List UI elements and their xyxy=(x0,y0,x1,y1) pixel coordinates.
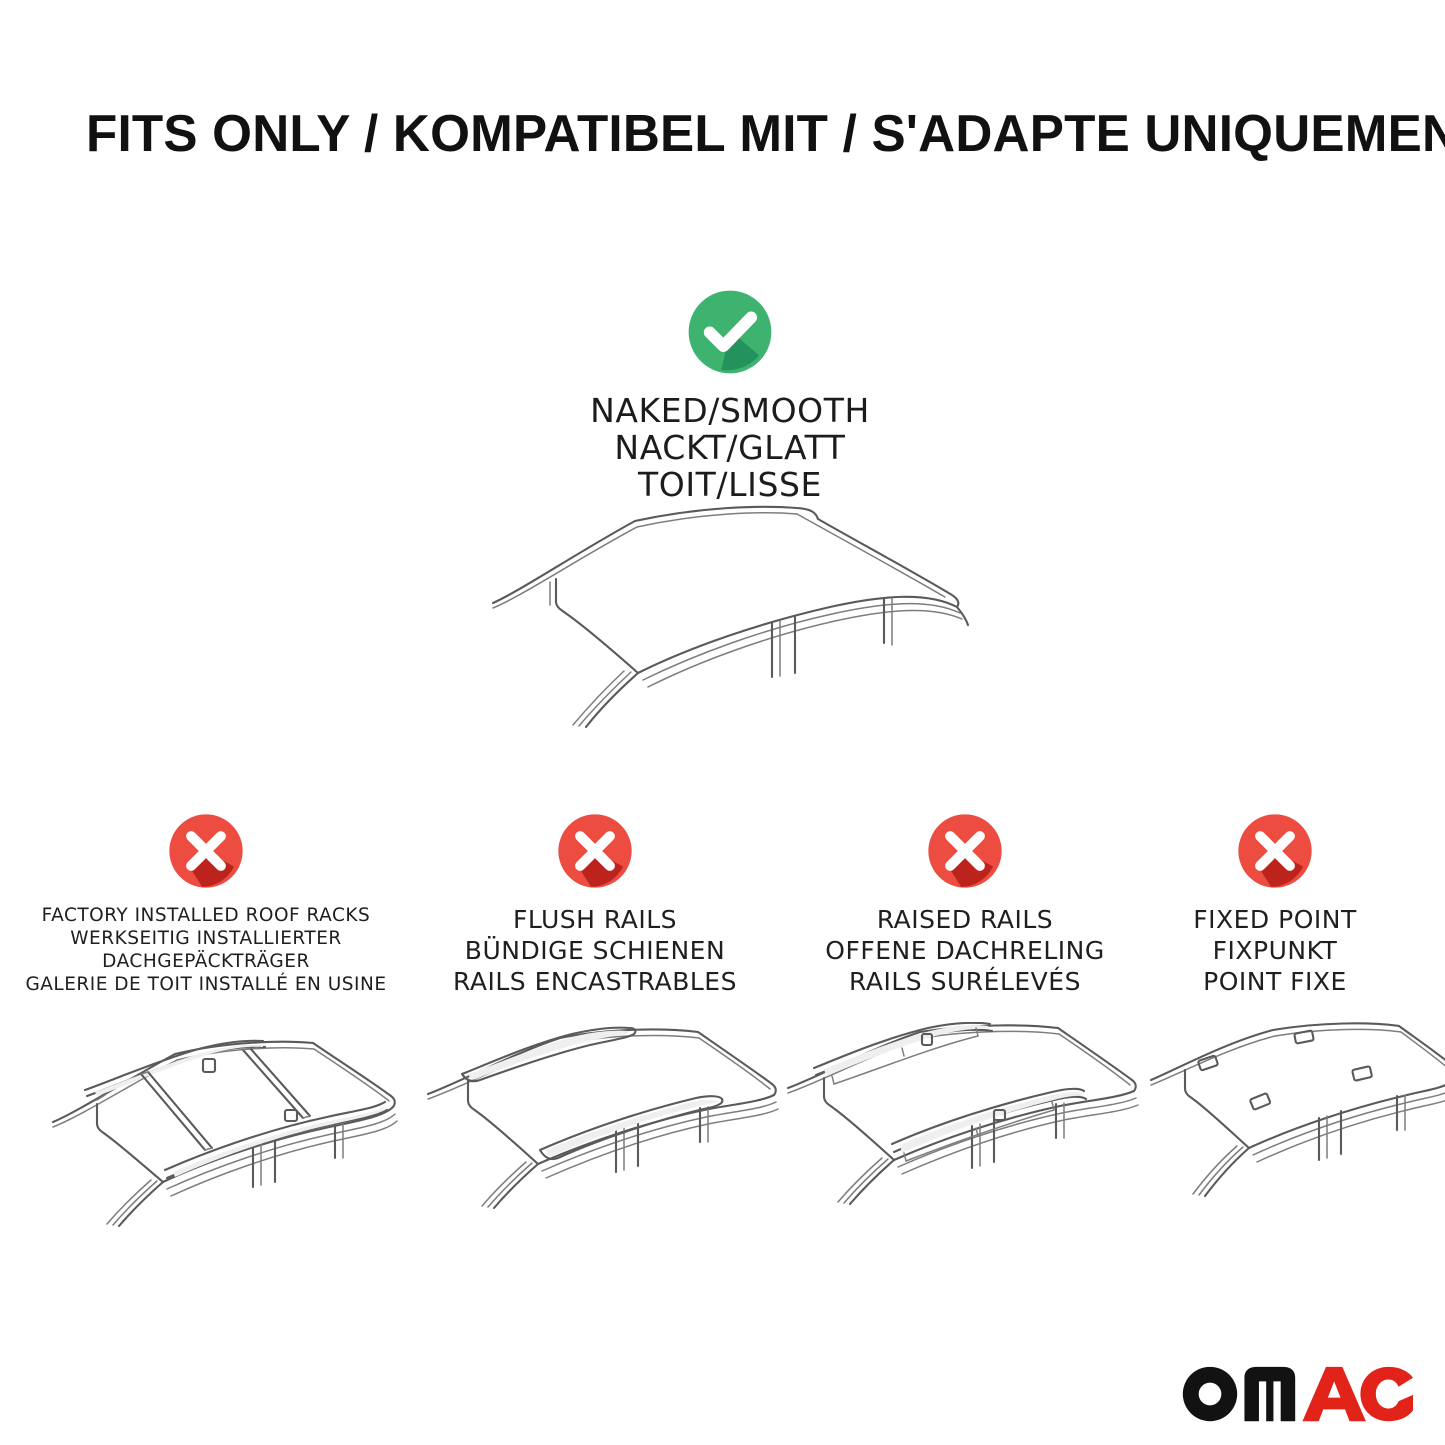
incompatible-label-line-1: RAISED RAILS xyxy=(825,904,1104,935)
incompatible-label-line-2: WERKSEITIG INSTALLIERTER xyxy=(25,927,386,950)
incompatible-label-line-2: FIXPUNKT xyxy=(1193,935,1356,966)
car-roof-flush-rails-illustration xyxy=(420,1022,790,1237)
page-title: FITS ONLY / KOMPATIBEL MIT / S'ADAPTE UN… xyxy=(86,105,1367,163)
omac-logo xyxy=(1181,1359,1417,1423)
incompatible-labels: FLUSH RAILS BÜNDIGE SCHIENEN RAILS ENCAS… xyxy=(453,904,737,997)
x-circle-icon xyxy=(556,812,634,890)
incompatible-label-line-3: DACHGEPÄCKTRÄGER xyxy=(25,950,386,973)
car-roof-naked-smooth-illustration xyxy=(460,495,1000,745)
incompatible-item-raised-rails: RAISED RAILS OFFENE DACHRELING RAILS SUR… xyxy=(790,812,1140,997)
compatible-label-line-1: NAKED/SMOOTH xyxy=(590,392,870,429)
incompatible-label-line-3: RAILS SURÉLEVÉS xyxy=(825,966,1104,997)
incompatible-label-line-1: FLUSH RAILS xyxy=(453,904,737,935)
incompatible-label-line-2: OFFENE DACHRELING xyxy=(825,935,1104,966)
x-circle-icon xyxy=(926,812,1004,890)
incompatible-item-factory-roof-racks: FACTORY INSTALLED ROOF RACKS WERKSEITIG … xyxy=(15,812,397,996)
incompatible-label-line-3: RAILS ENCASTRABLES xyxy=(453,966,737,997)
incompatible-item-fixed-point: FIXED POINT FIXPUNKT POINT FIXE xyxy=(1150,812,1400,997)
incompatible-label-line-2: BÜNDIGE SCHIENEN xyxy=(453,935,737,966)
incompatible-label-line-1: FACTORY INSTALLED ROOF RACKS xyxy=(25,904,386,927)
check-circle-icon xyxy=(686,288,774,376)
incompatible-label-line-1: FIXED POINT xyxy=(1193,904,1356,935)
x-circle-icon xyxy=(1236,812,1314,890)
incompatible-label-line-3: POINT FIXE xyxy=(1193,966,1356,997)
compatible-label-line-2: NACKT/GLATT xyxy=(590,429,870,466)
compatible-labels: NAKED/SMOOTH NACKT/GLATT TOIT/LISSE xyxy=(590,392,870,503)
car-roof-fixed-point-illustration xyxy=(1145,1022,1445,1237)
x-circle-icon xyxy=(167,812,245,890)
compatible-group: NAKED/SMOOTH NACKT/GLATT TOIT/LISSE xyxy=(420,288,1040,503)
incompatible-labels: FIXED POINT FIXPUNKT POINT FIXE xyxy=(1193,904,1356,997)
incompatible-labels: RAISED RAILS OFFENE DACHRELING RAILS SUR… xyxy=(825,904,1104,997)
incompatible-item-flush-rails: FLUSH RAILS BÜNDIGE SCHIENEN RAILS ENCAS… xyxy=(420,812,770,997)
car-roof-raised-rails-illustration xyxy=(780,1022,1150,1237)
car-roof-factory-roof-racks-illustration xyxy=(35,1022,405,1237)
incompatible-label-line-4: GALERIE DE TOIT INSTALLÉ EN USINE xyxy=(25,973,386,996)
incompatible-labels: FACTORY INSTALLED ROOF RACKS WERKSEITIG … xyxy=(25,904,386,996)
